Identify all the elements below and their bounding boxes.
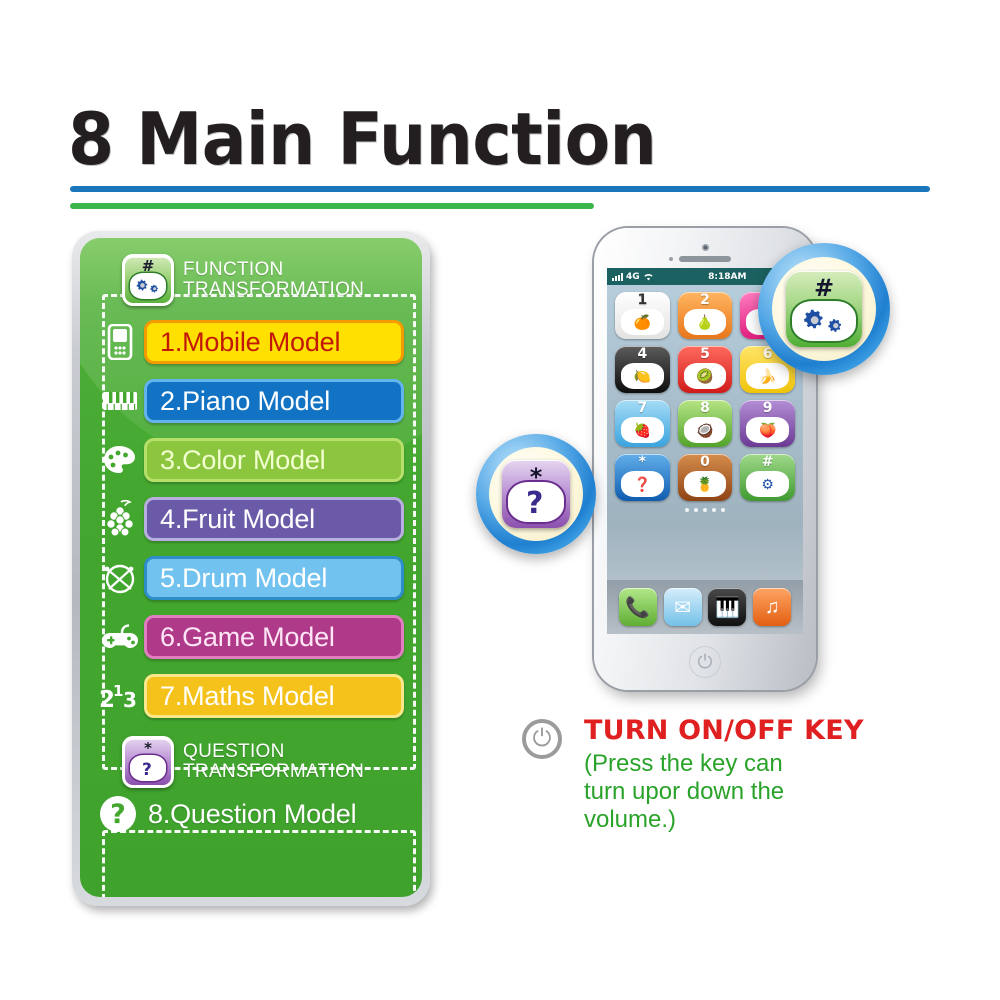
dock: 📞 ✉ 🎹 ♫ xyxy=(607,580,803,634)
pill-drum-model[interactable]: 5.Drum Model xyxy=(144,556,404,600)
drum-icon xyxy=(96,556,144,600)
question-group-outline xyxy=(102,830,416,897)
app-number: 4 xyxy=(615,347,670,362)
feature-list-screen: # FUNCTION TRANS xyxy=(80,238,422,897)
maths-213-icon: 2 1 3 xyxy=(96,674,144,718)
question-transformation-header: * ? QUESTION TRANSFORMATION xyxy=(80,736,422,788)
clock-label: 8:18AM xyxy=(708,272,746,282)
grapes-icon xyxy=(96,497,144,541)
app-number: * xyxy=(615,455,670,470)
mail-app-icon[interactable]: ✉ xyxy=(664,588,702,626)
divider-green xyxy=(70,203,594,209)
fruit-glyph: 🥥 xyxy=(684,417,727,443)
dot xyxy=(703,508,707,512)
power-icon: ⏻ xyxy=(522,719,562,759)
pill-fruit-model[interactable]: 4.Fruit Model xyxy=(144,497,404,541)
list-item-mobile-model[interactable]: 1.Mobile Model xyxy=(96,316,422,368)
question-circle-icon: ? xyxy=(100,796,136,832)
color-palette-icon xyxy=(96,438,144,482)
fruit-glyph: 🍋 xyxy=(621,363,664,389)
gears-cloud-large-icon xyxy=(792,301,856,341)
list-item-piano-model[interactable]: 2.Piano Model xyxy=(96,375,422,427)
hash-gears-key-large-icon: # xyxy=(786,271,862,347)
page-indicator-dots xyxy=(607,508,803,512)
callout-question-key: * ? xyxy=(476,434,596,554)
callout-function-key: # xyxy=(758,243,890,375)
music-app-icon[interactable]: ♫ xyxy=(753,588,791,626)
app-number: 9 xyxy=(740,401,795,416)
fn-title-line1: FUNCTION xyxy=(183,260,364,280)
svg-text:3: 3 xyxy=(123,688,137,711)
dot xyxy=(721,508,725,512)
pill-maths-model[interactable]: 7.Maths Model xyxy=(144,674,404,718)
phone-app-icon[interactable]: 📞 xyxy=(619,588,657,626)
note-body: (Press the key can turn upor down the vo… xyxy=(584,750,824,833)
app-key-9[interactable]: 9 🍑 xyxy=(740,400,795,447)
q-title-line2: TRANSFORMATION xyxy=(183,762,364,782)
app-number: 8 xyxy=(678,401,733,416)
piano-app-icon[interactable]: 🎹 xyxy=(708,588,746,626)
app-number: 0 xyxy=(678,455,733,470)
app-number: 7 xyxy=(615,401,670,416)
question-glyph: ❓ xyxy=(621,471,664,497)
q-title-line1: QUESTION xyxy=(183,742,364,762)
app-key-2[interactable]: 2 🍐 xyxy=(678,292,733,339)
piano-keys-icon xyxy=(96,379,144,423)
fruit-glyph: 🍓 xyxy=(621,417,664,443)
fn-title-line2: TRANSFORMATION xyxy=(183,280,364,300)
gamepad-icon xyxy=(96,615,144,659)
list-item-color-model[interactable]: 3.Color Model xyxy=(96,434,422,486)
home-power-button[interactable]: ⏻ xyxy=(689,646,721,678)
app-key-5[interactable]: 5 🥝 xyxy=(678,346,733,393)
gears-glyph: ⚙ xyxy=(746,471,789,497)
gears-cloud-icon xyxy=(130,273,166,299)
mobile-phone-icon xyxy=(96,320,144,364)
page-title: 8 Main Function xyxy=(68,103,656,175)
fruit-glyph: 🍐 xyxy=(684,309,727,335)
hash-gears-key-icon: # xyxy=(122,254,174,306)
pill-mobile-model[interactable]: 1.Mobile Model xyxy=(144,320,404,364)
pill-game-model[interactable]: 6.Game Model xyxy=(144,615,404,659)
fruit-glyph: 🍊 xyxy=(621,309,664,335)
callout-inner: * ? xyxy=(489,447,583,541)
key-symbol-asterisk: * xyxy=(125,741,171,756)
app-key-1[interactable]: 1 🍊 xyxy=(615,292,670,339)
app-key-4[interactable]: 4 🍋 xyxy=(615,346,670,393)
callout-inner: # xyxy=(772,257,876,361)
svg-text:?: ? xyxy=(142,760,152,778)
front-camera-icon xyxy=(702,244,709,251)
divider-blue xyxy=(70,186,930,192)
app-key-7[interactable]: 7 🍓 xyxy=(615,400,670,447)
app-number: 1 xyxy=(615,293,670,308)
fruit-glyph: 🥝 xyxy=(684,363,727,389)
fruit-glyph: 🍍 xyxy=(684,471,727,497)
app-number: # xyxy=(740,455,795,470)
pill-piano-model[interactable]: 2.Piano Model xyxy=(144,379,404,423)
dot xyxy=(685,508,689,512)
list-item-drum-model[interactable]: 5.Drum Model xyxy=(96,552,422,604)
earpiece-speaker xyxy=(679,256,731,262)
question-model-label: 8.Question Model xyxy=(148,799,356,830)
poster-root: 8 Main Function # xyxy=(0,0,1000,1000)
asterisk-question-key-large-icon: * ? xyxy=(502,460,570,528)
feature-list-panel: # FUNCTION TRANS xyxy=(72,231,430,906)
question-cloud-icon: ? xyxy=(130,755,166,781)
note-title: TURN ON/OFF KEY xyxy=(584,715,942,746)
app-number: 2 xyxy=(678,293,733,308)
list-item-maths-model[interactable]: 2 1 3 7.Maths Model xyxy=(96,670,422,722)
svg-text:1: 1 xyxy=(113,682,123,700)
question-cloud-large-icon: ? xyxy=(508,482,564,522)
fruit-glyph: 🍌 xyxy=(746,363,789,389)
network-label: 4G xyxy=(626,272,640,282)
app-key-8[interactable]: 8 🥥 xyxy=(678,400,733,447)
dot xyxy=(694,508,698,512)
pill-color-model[interactable]: 3.Color Model xyxy=(144,438,404,482)
model-list: 1.Mobile Model 2.Piano Model xyxy=(80,316,422,722)
list-item-fruit-model[interactable]: 4.Fruit Model xyxy=(96,493,422,545)
power-key-note: ⏻ TURN ON/OFF KEY (Press the key can tur… xyxy=(522,715,942,833)
wifi-icon xyxy=(643,272,654,281)
signal-bars-icon xyxy=(612,273,623,281)
app-number: 5 xyxy=(678,347,733,362)
question-transformation-title: QUESTION TRANSFORMATION xyxy=(183,742,364,782)
asterisk-question-key-icon: * ? xyxy=(122,736,174,788)
header: 8 Main Function xyxy=(0,0,1000,215)
key-symbol-hash-large: # xyxy=(786,276,862,300)
app-key-hash[interactable]: # ⚙ xyxy=(740,454,795,501)
proximity-sensor xyxy=(669,257,673,261)
function-transformation-header: # FUNCTION TRANS xyxy=(80,254,422,306)
app-key-0[interactable]: 0 🍍 xyxy=(678,454,733,501)
app-key-asterisk[interactable]: * ❓ xyxy=(615,454,670,501)
dot xyxy=(712,508,716,512)
svg-text:?: ? xyxy=(526,486,543,519)
key-symbol-hash: # xyxy=(125,259,171,274)
fruit-glyph: 🍑 xyxy=(746,417,789,443)
list-item-question-model[interactable]: ? 8.Question Model xyxy=(80,796,422,832)
list-item-game-model[interactable]: 6.Game Model xyxy=(96,611,422,663)
function-transformation-title: FUNCTION TRANSFORMATION xyxy=(183,260,364,300)
